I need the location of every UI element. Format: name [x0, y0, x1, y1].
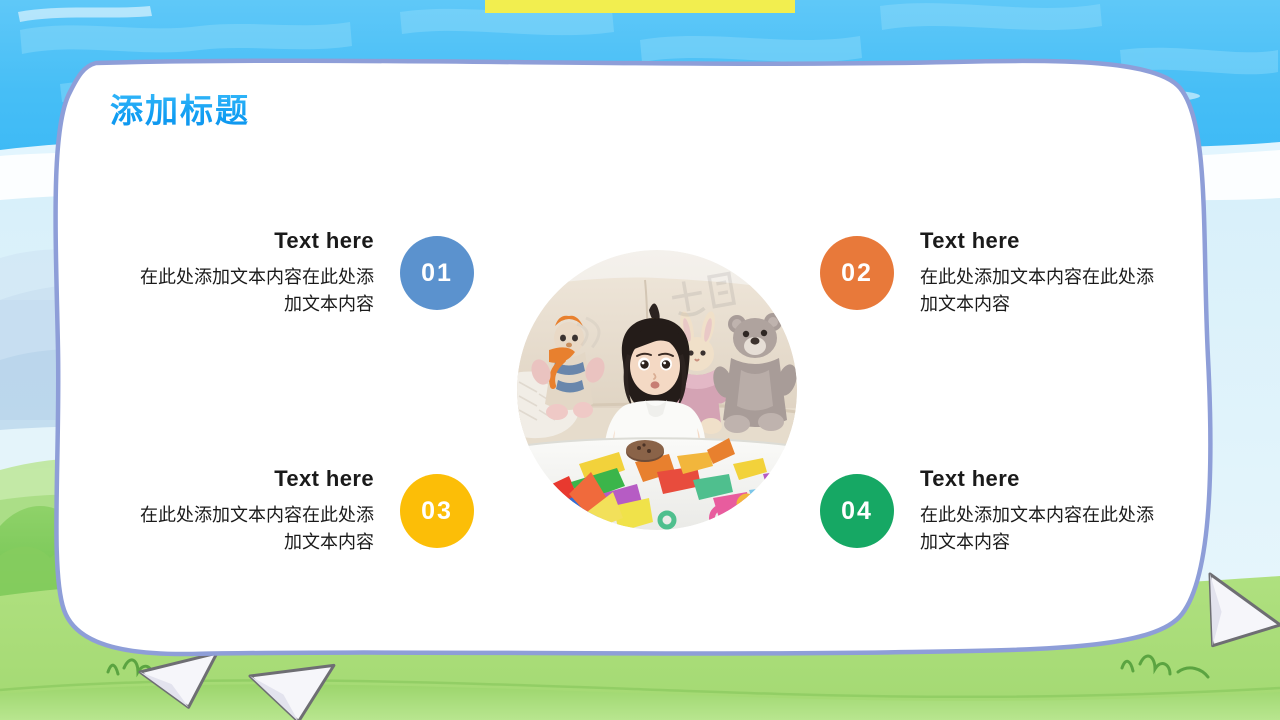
feature-heading-04: Text here: [920, 466, 1020, 492]
feature-heading-02: Text here: [920, 228, 1020, 254]
feature-item-02[interactable]: 02 Text here 在此处添加文本内容在此处添加文本内容: [820, 228, 1170, 318]
feature-item-01[interactable]: Text here 在此处添加文本内容在此处添加文本内容 01: [124, 228, 474, 318]
feature-heading-01: Text here: [274, 228, 374, 254]
feature-body-01: 在此处添加文本内容在此处添加文本内容: [124, 264, 374, 318]
feature-item-04[interactable]: 04 Text here 在此处添加文本内容在此处添加文本内容: [820, 466, 1170, 556]
feature-item-03[interactable]: Text here 在此处添加文本内容在此处添加文本内容 03: [124, 466, 474, 556]
slide-canvas: 添加标题: [0, 0, 1280, 720]
feature-number-01: 01: [421, 259, 453, 288]
feature-text-01: Text here 在此处添加文本内容在此处添加文本内容: [124, 228, 374, 318]
feature-body-03: 在此处添加文本内容在此处添加文本内容: [124, 502, 374, 556]
page-title: 添加标题: [110, 84, 250, 132]
feature-body-02: 在此处添加文本内容在此处添加文本内容: [920, 264, 1170, 318]
center-photo: [517, 250, 797, 530]
feature-badge-03[interactable]: 03: [400, 474, 474, 548]
feature-badge-02[interactable]: 02: [820, 236, 894, 310]
feature-text-04: Text here 在此处添加文本内容在此处添加文本内容: [920, 466, 1170, 556]
feature-number-03: 03: [421, 497, 453, 526]
feature-badge-04[interactable]: 04: [820, 474, 894, 548]
feature-body-04: 在此处添加文本内容在此处添加文本内容: [920, 502, 1170, 556]
feature-text-02: Text here 在此处添加文本内容在此处添加文本内容: [920, 228, 1170, 318]
feature-text-03: Text here 在此处添加文本内容在此处添加文本内容: [124, 466, 374, 556]
top-yellow-bar: [485, 0, 795, 13]
child-with-toys-illustration: [517, 250, 797, 530]
feature-badge-01[interactable]: 01: [400, 236, 474, 310]
content-card: 添加标题: [52, 58, 1216, 658]
feature-number-04: 04: [841, 497, 873, 526]
feature-heading-03: Text here: [274, 466, 374, 492]
feature-number-02: 02: [841, 259, 873, 288]
